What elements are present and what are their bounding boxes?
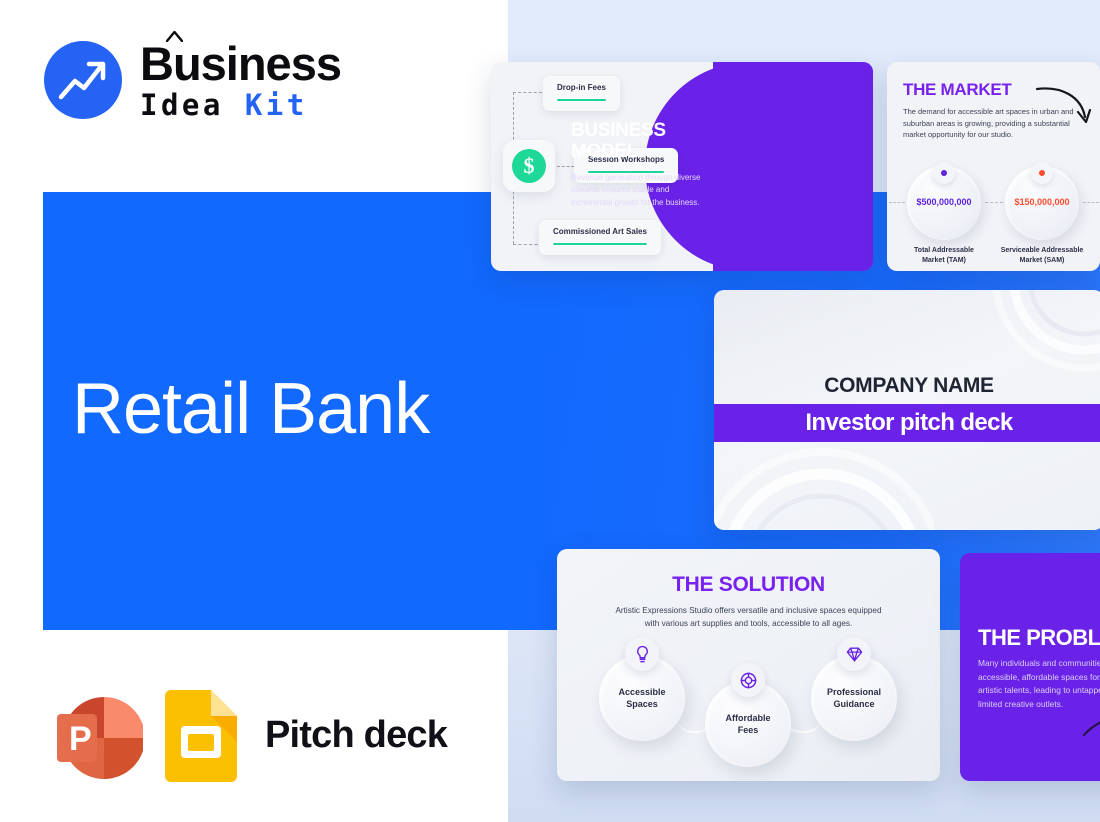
slide-problem[interactable]: THE PROBLEM Many individuals and communi… — [960, 553, 1100, 781]
poster-canvas: Business Idea Kit Retail Bank — [0, 0, 1100, 822]
market-dash-right — [1083, 202, 1099, 203]
metric-dot-badge — [1031, 162, 1053, 184]
solution-node-label: Affordable Fees — [726, 712, 771, 736]
solution-title: THE SOLUTION — [557, 573, 940, 597]
business-model-item-label: Drop-in Fees — [557, 83, 606, 92]
market-metric-value: $500,000,000 — [907, 197, 981, 207]
target-circle-icon — [731, 663, 765, 697]
business-model-title: BUSINESS MODEL — [571, 120, 711, 163]
dollar-sign-icon: $ — [512, 149, 546, 183]
solution-description: Artistic Expressions Studio offers versa… — [609, 604, 888, 631]
slide-company-title[interactable]: COMPANY NAME Investor pitch deck — [714, 290, 1100, 530]
lightbulb-icon — [625, 637, 659, 671]
caption-line2: Market (SAM) — [992, 256, 1092, 266]
powerpoint-file-icon: P — [48, 688, 143, 783]
format-badges-label: Pitch deck — [265, 714, 447, 757]
decorative-arc-icon — [1082, 707, 1100, 747]
business-model-description: Revenue generation through diverse strea… — [571, 172, 706, 209]
market-metric-caption: Total Addressable Market (TAM) — [894, 246, 994, 266]
connector-top — [513, 92, 547, 93]
business-model-item[interactable]: Commissioned Art Sales — [539, 220, 661, 255]
company-subtitle: Investor pitch deck — [805, 409, 1012, 437]
format-badges-row: P Pitch deck — [48, 688, 447, 783]
caption-line1: Total Addressable — [894, 246, 994, 256]
market-metric-caption: Serviceable Addressable Market (SAM) — [992, 246, 1092, 266]
market-dash-left — [889, 202, 905, 203]
google-slides-file-icon — [165, 690, 237, 782]
company-name: COMPANY NAME — [714, 374, 1100, 398]
node-label-line1: Accessible — [618, 686, 665, 698]
brand-name-kit: Kit — [245, 88, 308, 122]
diamond-gem-icon — [837, 637, 871, 671]
problem-title: THE PROBLEM — [978, 625, 1100, 651]
node-label-line2: Spaces — [618, 698, 665, 710]
page-title: Retail Bank — [72, 368, 429, 450]
metric-dot-icon — [1039, 170, 1045, 176]
brand-name-line1: Business — [140, 40, 341, 87]
business-model-title-line2: MODEL — [571, 141, 711, 162]
business-model-purple-fill — [713, 62, 873, 271]
market-metric-tam: $500,000,000 — [907, 166, 981, 240]
metric-dot-badge — [933, 162, 955, 184]
underline-bar — [557, 99, 606, 101]
business-model-center-node: $ — [503, 140, 555, 192]
node-label-line2: Fees — [726, 724, 771, 736]
brand-logo: Business Idea Kit — [44, 40, 341, 120]
caption-line1: Serviceable Addressable — [992, 246, 1092, 256]
brand-name-line2: Idea Kit — [140, 91, 341, 120]
svg-text:P: P — [69, 720, 92, 758]
circumflex-accent-icon — [166, 31, 183, 42]
problem-description: Many individuals and communities lack ac… — [978, 657, 1100, 711]
node-label-line2: Guidance — [827, 698, 881, 710]
brand-name-idea: Idea — [140, 88, 224, 122]
solution-node-label: Professional Guidance — [827, 686, 881, 710]
node-label-line1: Professional — [827, 686, 881, 698]
slide-market[interactable]: THE MARKET The demand for accessible art… — [887, 62, 1100, 271]
market-description: The demand for accessible art spaces in … — [903, 106, 1085, 141]
node-label-line1: Affordable — [726, 712, 771, 724]
brand-wordmark: Business Idea Kit — [140, 40, 341, 120]
growth-arrow-chart-icon — [44, 41, 122, 119]
business-model-item-label: Commissioned Art Sales — [553, 227, 647, 236]
caption-line2: Market (TAM) — [894, 256, 994, 266]
market-title: THE MARKET — [903, 80, 1011, 100]
solution-node-label: Accessible Spaces — [618, 686, 665, 710]
slide-solution[interactable]: THE SOLUTION Artistic Expressions Studio… — [557, 549, 940, 781]
business-model-item[interactable]: Drop-in Fees — [543, 76, 620, 111]
slide-business-model[interactable]: $ Drop-in Fees Session Workshops Commiss… — [491, 62, 873, 271]
market-metric-value: $150,000,000 — [1005, 197, 1079, 207]
company-subtitle-band: Investor pitch deck — [714, 404, 1100, 442]
business-model-title-line1: BUSINESS — [571, 120, 711, 141]
underline-bar — [553, 243, 647, 245]
market-dash-mid — [985, 202, 1003, 203]
metric-dot-icon — [941, 170, 947, 176]
market-metric-sam: $150,000,000 — [1005, 166, 1079, 240]
